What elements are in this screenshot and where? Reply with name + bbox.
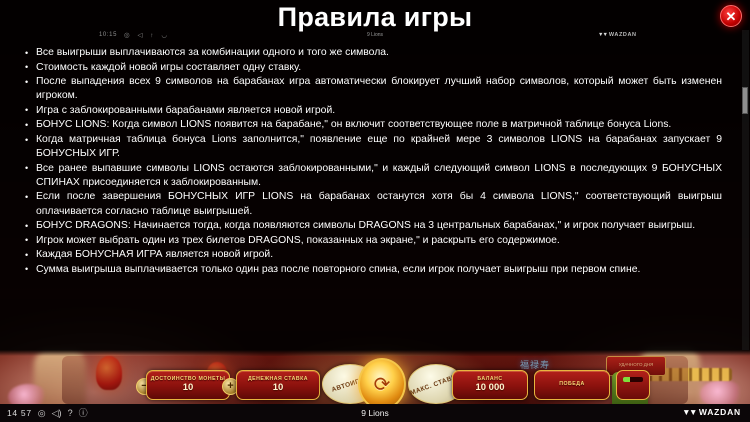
balance-display: БАЛАНС 10 000 <box>452 370 528 400</box>
win-display: ПОБЕДА <box>534 370 610 400</box>
overlay-fade-edge <box>0 350 750 356</box>
rule-item: Сумма выигрыша выплачивается только один… <box>22 263 722 277</box>
win-label: ПОБЕДА <box>559 382 584 388</box>
cash-bet-amount: 10 <box>273 382 284 393</box>
status-bar-brand: ▼▼WAZDAN <box>682 407 741 417</box>
rules-overlay: 10:15 ◎ ◁ ↑ ◡ 9 Lions ▼▼WAZDAN Правила и… <box>0 0 750 350</box>
rule-item: Игра с заблокированными барабанами являе… <box>22 104 722 118</box>
spin-button[interactable]: ⟳ <box>358 358 406 410</box>
rule-item: Если после завершения БОНУСНЫХ ИГР LIONS… <box>22 190 722 218</box>
status-bar-brand-text: WAZDAN <box>699 407 741 417</box>
rules-list: Все выигрыши выплачиваются за комбинации… <box>22 46 722 278</box>
spin-icon: ⟳ <box>374 372 391 397</box>
rule-item: Все ранее выпавшие символы LIONS остаютс… <box>22 162 722 190</box>
rule-item: Стоимость каждой новой игры составляет о… <box>22 61 722 75</box>
status-bar: 14 57 ◎ ◁) ? ⓘ 9 Lions ▼▼WAZDAN <box>0 404 750 422</box>
cash-bet-display[interactable]: ДЕНЕЖНАЯ СТАВКА 10 <box>236 370 320 400</box>
rule-item: Каждая БОНУСНАЯ ИГРА является новой игро… <box>22 248 722 262</box>
page-title: Правила игры <box>0 2 750 33</box>
sound-settings-button[interactable] <box>616 370 650 400</box>
status-bar-game-title: 9 Lions <box>0 408 750 418</box>
rule-item: После выпадения всех 9 символов на бараб… <box>22 75 722 103</box>
rule-item: Когда матричная таблица бонуса Lions зап… <box>22 133 722 161</box>
coin-value-amount: 10 <box>183 382 194 393</box>
game-window: УДАЧНОГО ДНЯ MAX WIN 福禄寿 − ДОСТОИНСТВО М… <box>0 0 750 422</box>
scrollbar-track[interactable] <box>742 30 749 350</box>
wazdan-chevron-icon: ▼▼ <box>682 407 696 417</box>
rule-item: Игрок может выбрать один из трех билетов… <box>22 234 722 248</box>
scrollbar-thumb[interactable] <box>742 87 748 114</box>
rule-item: БОНУС DRAGONS: Начинается тогда, когда п… <box>22 219 722 233</box>
sound-slider-icon[interactable] <box>623 377 643 382</box>
coin-value-display[interactable]: ДОСТОИНСТВО МОНЕТЫ 10 <box>146 370 230 400</box>
close-icon[interactable]: ✕ <box>720 5 742 27</box>
rule-item: Все выигрыши выплачиваются за комбинации… <box>22 46 722 60</box>
game-control-panel: − ДОСТОИНСТВО МОНЕТЫ 10 + ДЕНЕЖНАЯ СТАВК… <box>0 356 750 404</box>
balance-amount: 10 000 <box>475 382 504 393</box>
rule-item: БОНУС LIONS: Когда символ LIONS появится… <box>22 118 722 132</box>
